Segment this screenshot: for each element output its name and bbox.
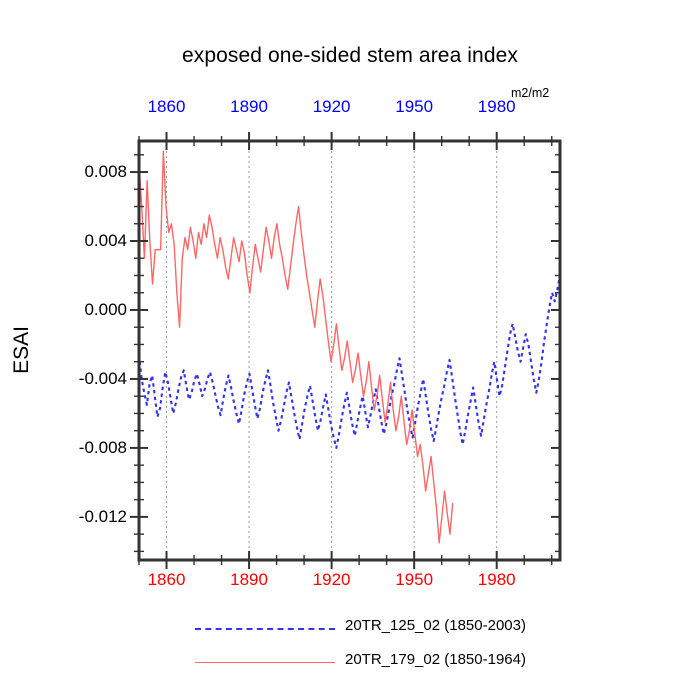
legend-item[interactable]: 20TR_179_02 (1850-1964)	[0, 646, 700, 680]
legend-swatch-dashed	[195, 628, 335, 630]
legend-label: 20TR_125_02 (1850-2003)	[345, 617, 526, 634]
series-line-red	[139, 151, 453, 542]
plot-area	[0, 0, 700, 700]
legend: 20TR_125_02 (1850-2003) 20TR_179_02 (185…	[0, 612, 700, 680]
chart-root: exposed one-sided stem area index m2/m2 …	[0, 0, 700, 700]
legend-item[interactable]: 20TR_125_02 (1850-2003)	[0, 612, 700, 646]
legend-swatch-solid	[195, 662, 335, 663]
legend-label: 20TR_179_02 (1850-1964)	[345, 651, 526, 668]
